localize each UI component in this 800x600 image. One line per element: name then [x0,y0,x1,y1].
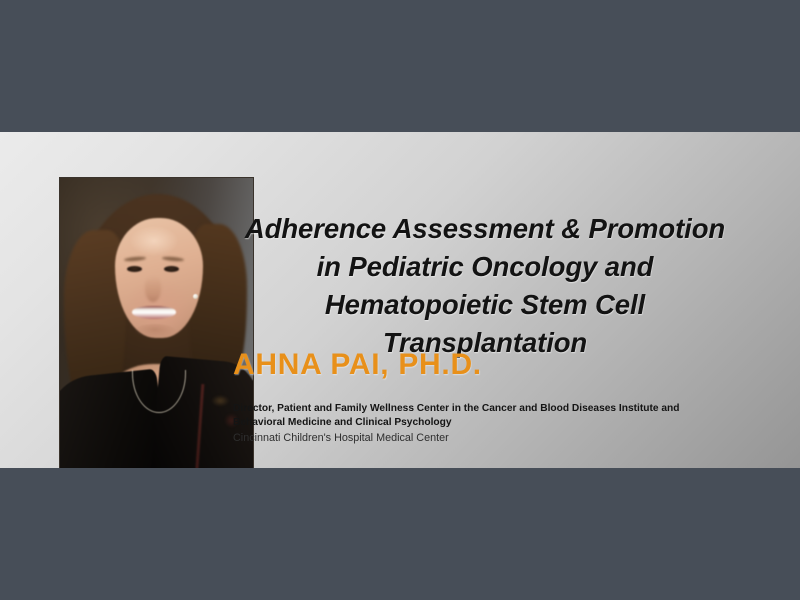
portrait-eye-left [127,266,142,272]
presentation-slide: Adherence Assessment & Promotion in Pedi… [0,132,800,468]
portrait-hair-left [64,230,126,428]
portrait-neck [132,330,182,378]
speaker-affiliation-line-2: Behavioral Medicine and Clinical Psychol… [233,416,452,430]
portrait-forehead-highlight [130,226,178,256]
portrait-eye-right [164,266,179,272]
speaker-name: AHNA PAI, PH.D. [233,348,482,382]
speaker-portrait-photo [59,177,254,468]
portrait-eyebrow-right [162,256,184,262]
portrait-chin-shadow [134,324,176,338]
slide-title: Adherence Assessment & Promotion in Pedi… [231,210,739,362]
portrait-earring [193,294,198,299]
portrait-eyebrow-left [124,256,146,262]
portrait-blur-overlay [60,178,253,468]
letterbox-bar-top [0,0,800,132]
portrait-jacket-trim [195,384,205,468]
speaker-affiliation-line-1: Director, Patient and Family Wellness Ce… [233,402,679,416]
portrait-necklace-pendant [155,409,162,417]
letterbox-bar-bottom [0,468,800,600]
portrait-jacket-left [59,369,167,468]
portrait-necklace-chain [132,370,186,413]
portrait-smile [132,306,176,319]
portrait-image [60,178,253,468]
slide-text-column: Adherence Assessment & Promotion in Pedi… [231,132,791,468]
portrait-hair-back [72,194,244,424]
portrait-black-top [112,414,208,468]
portrait-nose [145,276,161,302]
portrait-chest [104,364,216,434]
portrait-face [115,218,203,338]
video-player-frame: Adherence Assessment & Promotion in Pedi… [0,0,800,600]
speaker-institution: Cincinnati Children's Hospital Medical C… [233,431,449,445]
